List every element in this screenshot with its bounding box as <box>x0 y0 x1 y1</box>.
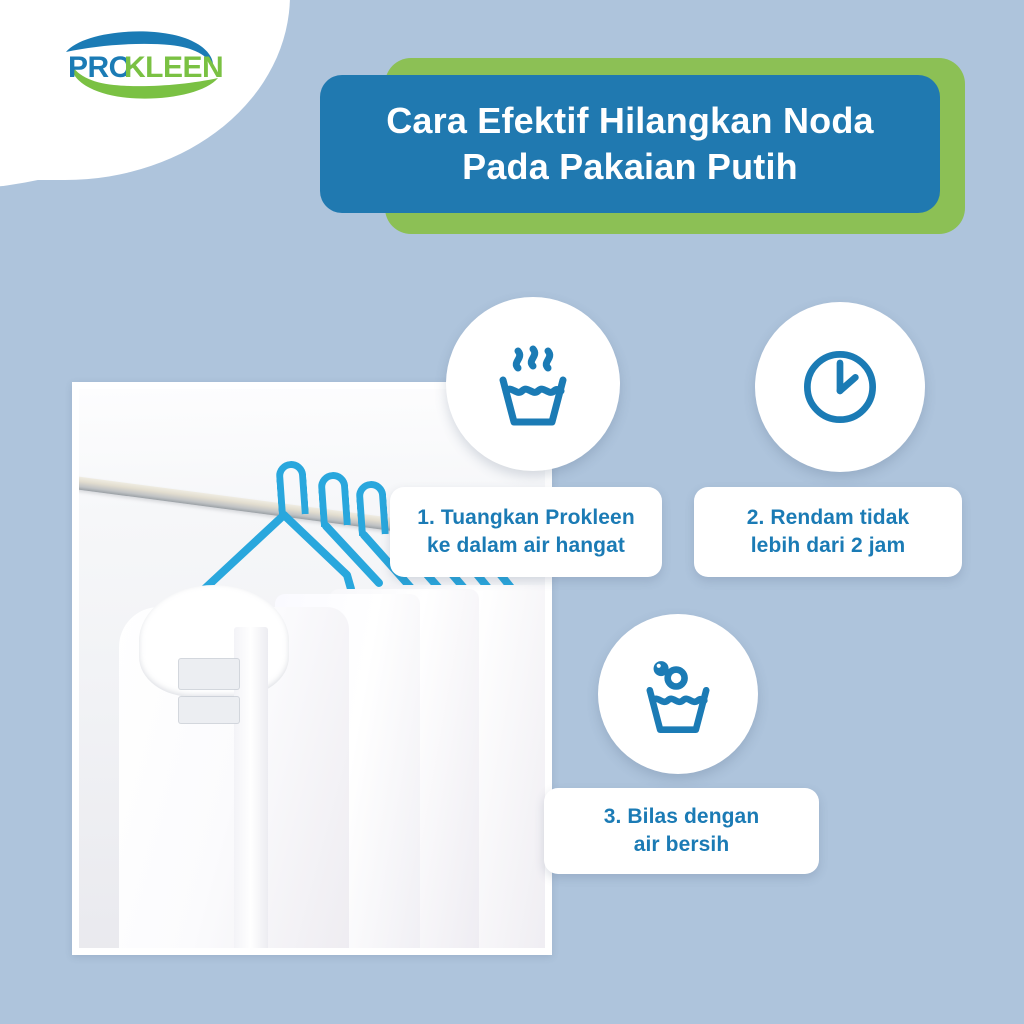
step-2-caption: 2. Rendam tidak lebih dari 2 jam <box>694 487 962 577</box>
step-1-caption-text: 1. Tuangkan Prokleen ke dalam air hangat <box>417 504 635 560</box>
page-title: Cara Efektif Hilangkan Noda Pada Pakaian… <box>346 98 914 190</box>
title-banner: Cara Efektif Hilangkan Noda Pada Pakaian… <box>320 75 940 213</box>
laundry-photo <box>79 389 545 948</box>
step-1-icon-circle <box>446 297 620 471</box>
step-3-caption-text: 3. Bilas dengan air bersih <box>604 803 760 859</box>
shirt-label-tag <box>179 659 239 689</box>
photo-frame <box>72 382 552 955</box>
shirt-label-tag <box>179 697 239 723</box>
svg-text:PRO: PRO <box>68 51 132 84</box>
clock-icon <box>792 339 888 435</box>
svg-text:KLEEN: KLEEN <box>124 51 223 84</box>
step-2-caption-text: 2. Rendam tidak lebih dari 2 jam <box>747 504 910 560</box>
warm-water-wash-icon <box>483 334 583 434</box>
rinse-water-wash-icon <box>631 647 725 741</box>
step-1-caption: 1. Tuangkan Prokleen ke dalam air hangat <box>390 487 662 577</box>
prokleen-logo: PRO KLEEN <box>52 26 232 102</box>
shirt-placket <box>234 627 268 948</box>
prokleen-logo-icon: PRO KLEEN <box>52 26 232 102</box>
poster-canvas: PRO KLEEN Cara Efektif Hilangkan Noda Pa… <box>0 0 1024 1024</box>
step-3-icon-circle <box>598 614 758 774</box>
step-2-icon-circle <box>755 302 925 472</box>
step-3-caption: 3. Bilas dengan air bersih <box>544 788 819 874</box>
